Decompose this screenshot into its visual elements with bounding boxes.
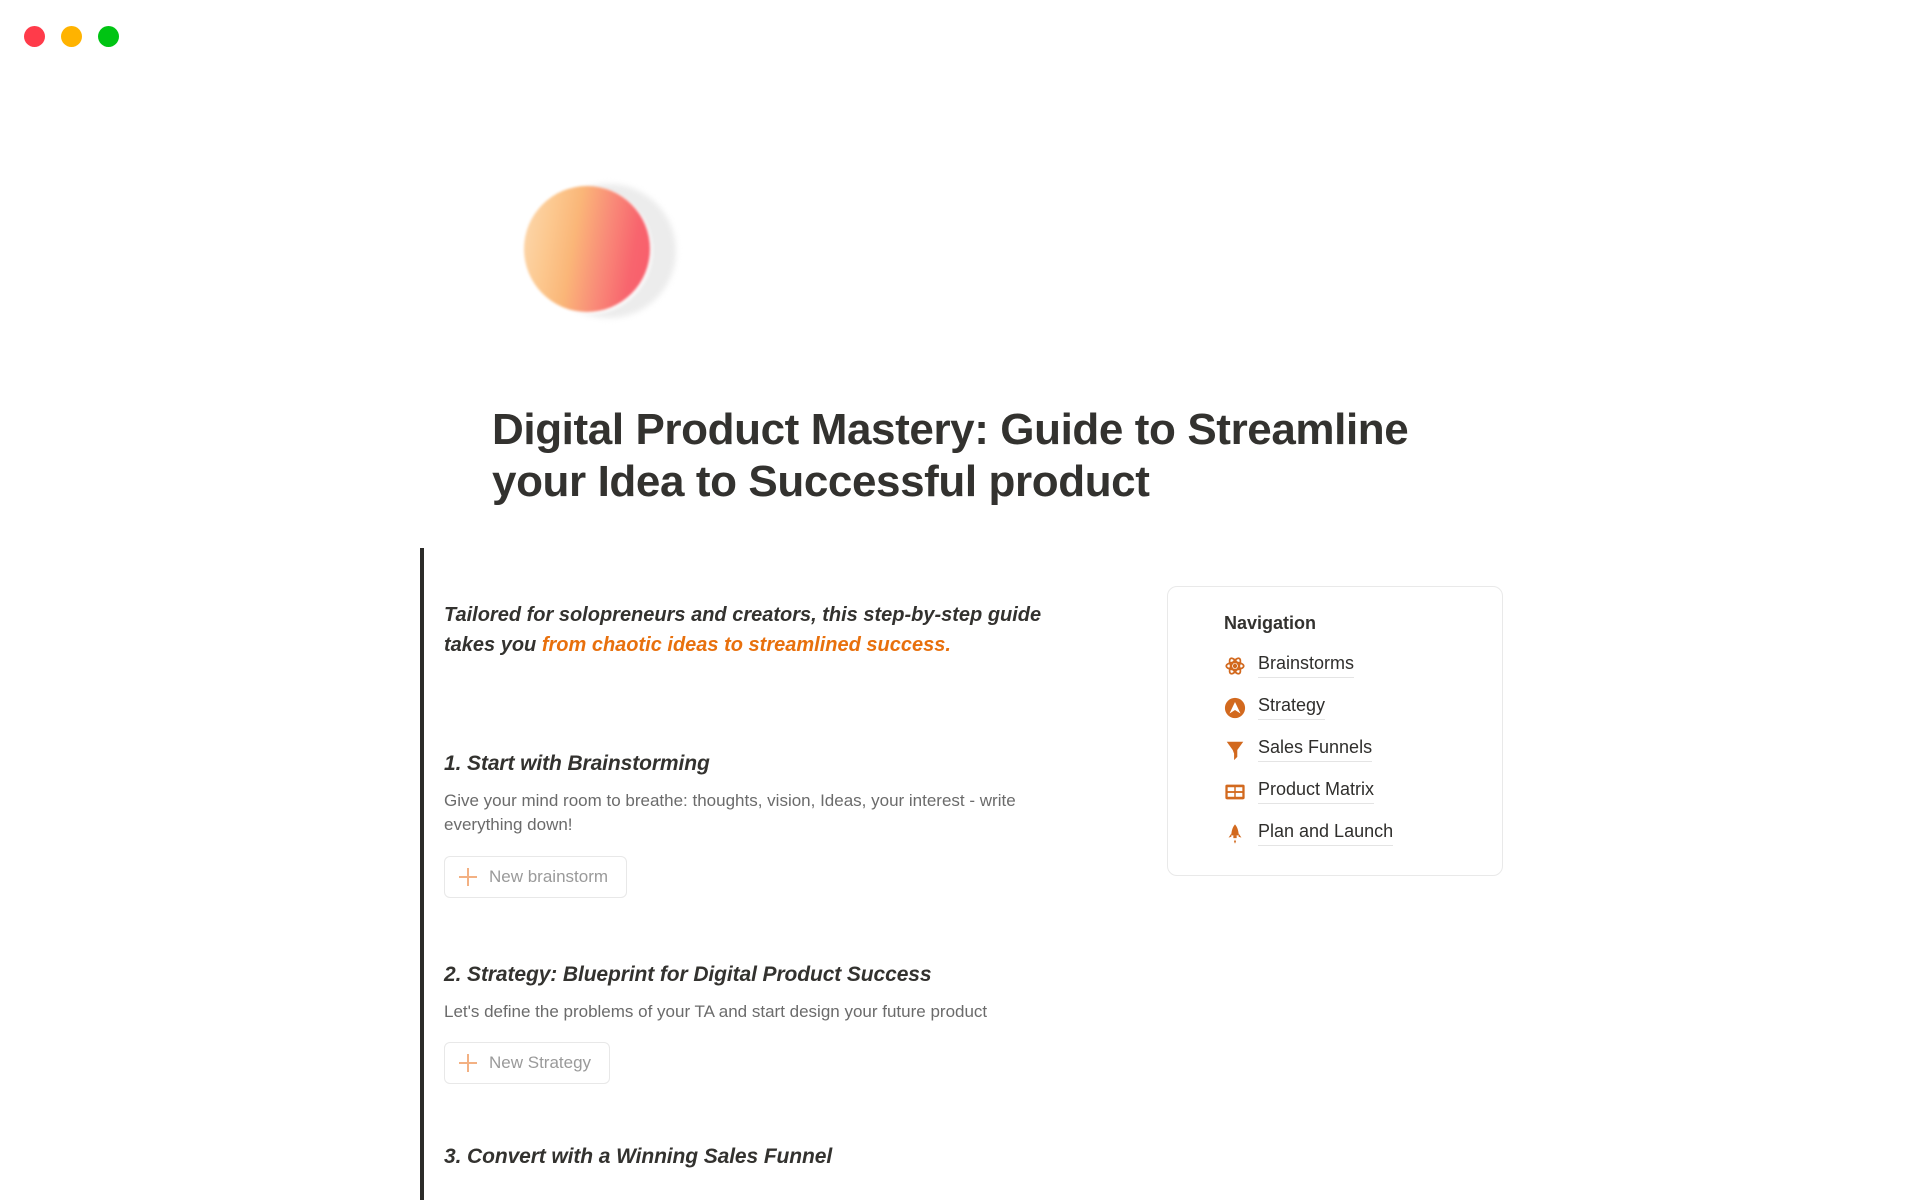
main-content-column: Tailored for solopreneurs and creators, … [444,600,1104,661]
section-strategy: 2. Strategy: Blueprint for Digital Produ… [444,963,1084,1084]
plus-icon [459,868,477,886]
nav-item-plan-and-launch[interactable]: Plan and Launch [1224,813,1502,855]
new-strategy-button[interactable]: New Strategy [444,1042,610,1084]
section-body: Let's define the problems of your TA and… [444,1000,1084,1024]
nav-item-product-matrix[interactable]: Product Matrix [1224,771,1502,813]
gradient-orb-icon [524,178,672,326]
nav-item-brainstorms[interactable]: Brainstorms [1224,645,1502,687]
section-brainstorming: 1. Start with Brainstorming Give your mi… [444,752,1084,898]
nav-label: Sales Funnels [1258,738,1372,762]
navigation-title: Navigation [1224,613,1502,634]
nav-item-strategy[interactable]: Strategy [1224,687,1502,729]
section-sales-funnel: 3. Convert with a Winning Sales Funnel [444,1145,832,1169]
plus-icon [459,1054,477,1072]
section-heading: 3. Convert with a Winning Sales Funnel [444,1145,832,1169]
lede-accent-text: from chaotic ideas to streamlined succes… [542,634,951,656]
grid-table-icon [1224,781,1246,803]
section-heading: 1. Start with Brainstorming [444,752,1084,776]
section-body: Give your mind room to breathe: thoughts… [444,789,1084,838]
nav-label: Plan and Launch [1258,822,1393,846]
new-brainstorm-label: New brainstorm [489,867,608,887]
document-canvas: Digital Product Mastery: Guide to Stream… [0,0,1920,1200]
circle-chevron-up-icon [1224,697,1246,719]
navigation-panel: Navigation Brainstorms Strategy [1167,586,1503,876]
nav-label: Brainstorms [1258,654,1354,678]
section-heading: 2. Strategy: Blueprint for Digital Produ… [444,963,1084,987]
new-strategy-label: New Strategy [489,1053,591,1073]
rocket-icon [1224,823,1246,845]
funnel-icon [1224,739,1246,761]
nav-label: Product Matrix [1258,780,1374,804]
nav-label: Strategy [1258,696,1325,720]
callout-vertical-rule [420,548,424,1200]
lede-paragraph: Tailored for solopreneurs and creators, … [444,600,1084,661]
new-brainstorm-button[interactable]: New brainstorm [444,856,627,898]
nav-item-sales-funnels[interactable]: Sales Funnels [1224,729,1502,771]
atom-icon [1224,655,1246,677]
page-title: Digital Product Mastery: Guide to Stream… [492,404,1412,508]
orb-gradient [524,186,650,312]
